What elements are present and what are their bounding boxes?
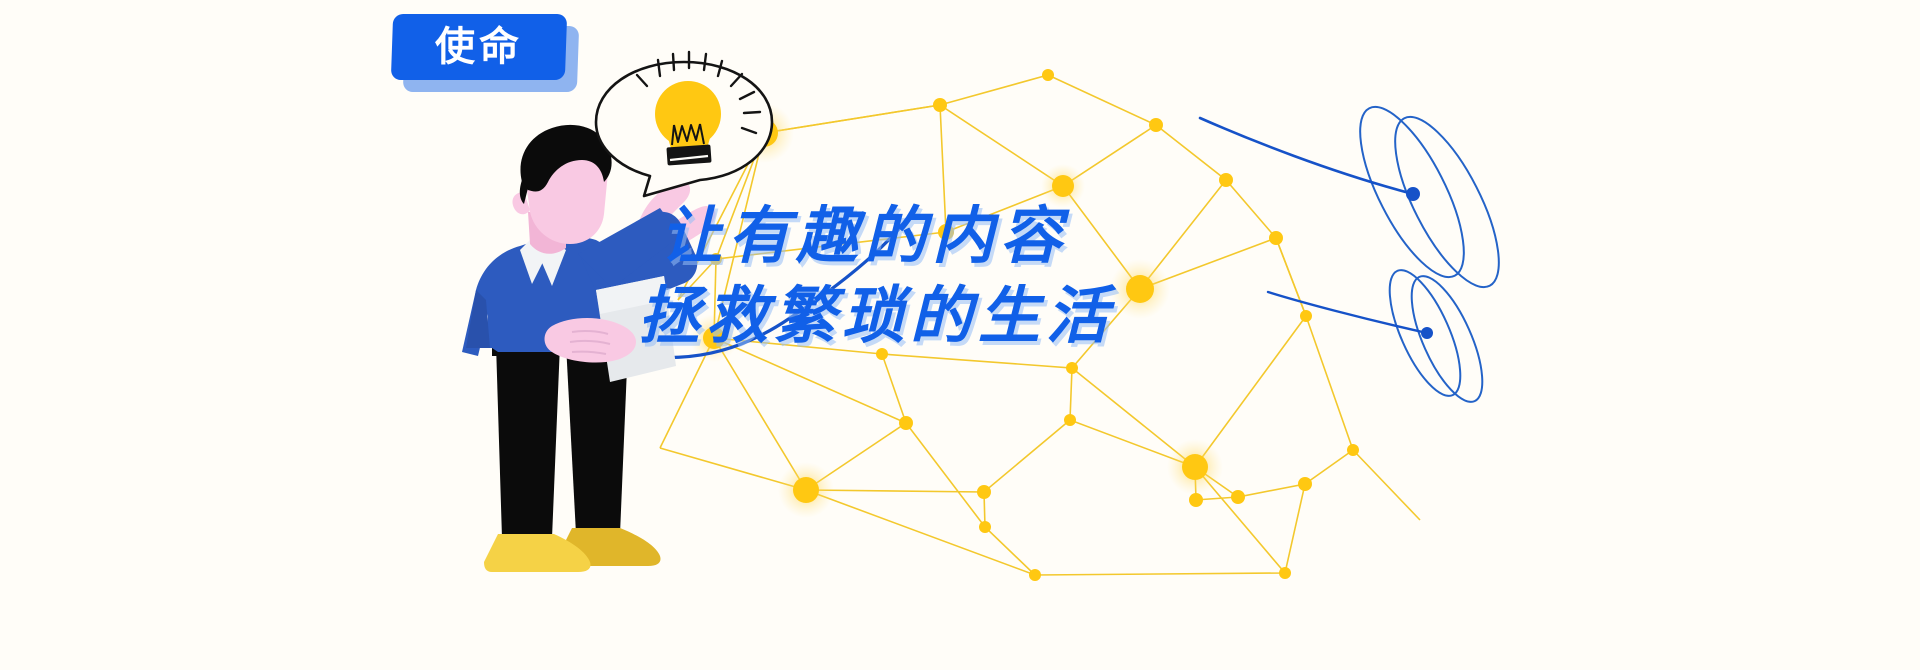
mission-badge: 使命 — [392, 14, 572, 86]
badge-plate: 使命 — [391, 14, 567, 80]
mission-banner: 让有趣的内容 拯救繁琐的生活 使命 — [0, 0, 1920, 670]
headline-line-2: 拯救繁琐的生活 — [638, 276, 1400, 356]
headline-line-1: 让有趣的内容 — [660, 196, 1400, 276]
headline: 让有趣的内容 拯救繁琐的生活 — [660, 196, 1400, 356]
badge-label: 使命 — [435, 27, 523, 67]
